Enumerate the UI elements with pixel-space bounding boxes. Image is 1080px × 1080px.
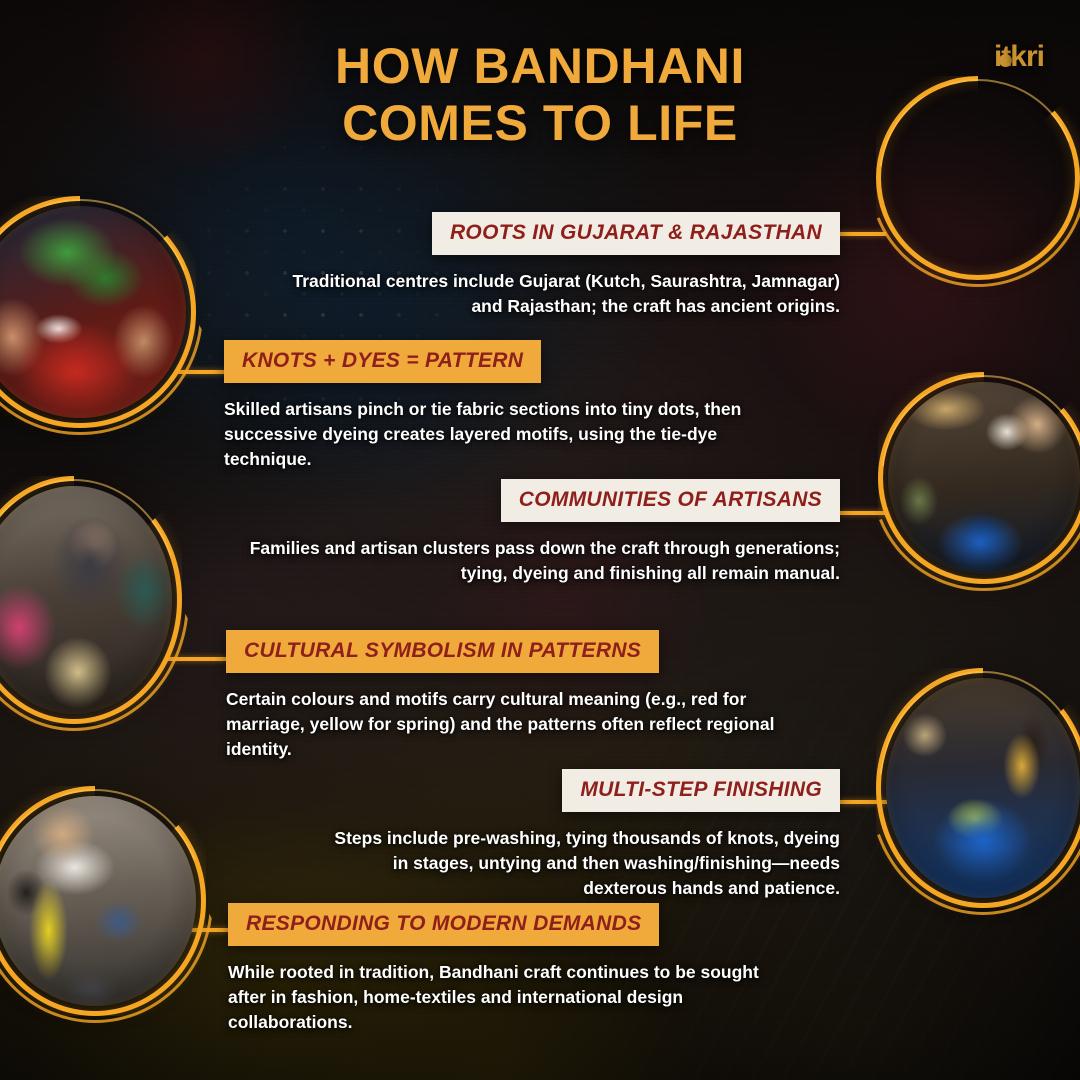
section-cultural-symbolism-tag[interactable]: CULTURAL SYMBOLISM IN PATTERNS [226,630,659,673]
page-title-line-1: HOW BANDHANI [335,38,745,94]
section-multi-step-finishing-body: Steps include pre-washing, tying thousan… [320,826,840,901]
itokri-logo[interactable]: itkri [994,40,1044,74]
section-communities: COMMUNITIES OF ARTISANS Families and art… [244,479,840,586]
photo-cloth-into-blue-vat [876,668,1080,908]
photo-dyer-blue-tub [878,372,1080,584]
infographic-poster: HOW BANDHANI COMES TO LIFE itkri [0,0,1080,1080]
page-title: HOW BANDHANI COMES TO LIFE [0,38,1080,152]
section-roots-body: Traditional centres include Gujarat (Kut… [280,269,840,319]
section-modern-demands-tag[interactable]: RESPONDING TO MODERN DEMANDS [228,903,659,946]
section-multi-step-finishing-tag[interactable]: MULTI-STEP FINISHING [562,769,840,812]
section-knots-dyes: KNOTS + DYES = PATTERN Skilled artisans … [224,340,774,472]
section-roots: ROOTS IN GUJARAT & RAJASTHAN Traditional… [280,212,840,319]
section-communities-body: Families and artisan clusters pass down … [244,536,840,586]
section-modern-demands-body: While rooted in tradition, Bandhani craf… [228,960,788,1035]
page-title-line-2: COMES TO LIFE [150,95,930,152]
photo-woman-artisan-seated [0,476,182,724]
section-modern-demands: RESPONDING TO MODERN DEMANDS While roote… [228,903,788,1035]
logo-text-after: kri [1010,40,1044,73]
photo-hands-tying-red-cloth [0,196,196,428]
section-multi-step-finishing: MULTI-STEP FINISHING Steps include pre-w… [320,769,840,901]
section-roots-tag[interactable]: ROOTS IN GUJARAT & RAJASTHAN [432,212,840,255]
section-communities-tag[interactable]: COMMUNITIES OF ARTISANS [501,479,840,522]
section-cultural-symbolism-body: Certain colours and motifs carry cultura… [226,687,786,762]
photo-man-lifting-yellow-hank [0,786,206,1016]
section-cultural-symbolism: CULTURAL SYMBOLISM IN PATTERNS Certain c… [226,630,786,762]
section-knots-dyes-body: Skilled artisans pinch or tie fabric sec… [224,397,774,472]
section-knots-dyes-tag[interactable]: KNOTS + DYES = PATTERN [224,340,541,383]
